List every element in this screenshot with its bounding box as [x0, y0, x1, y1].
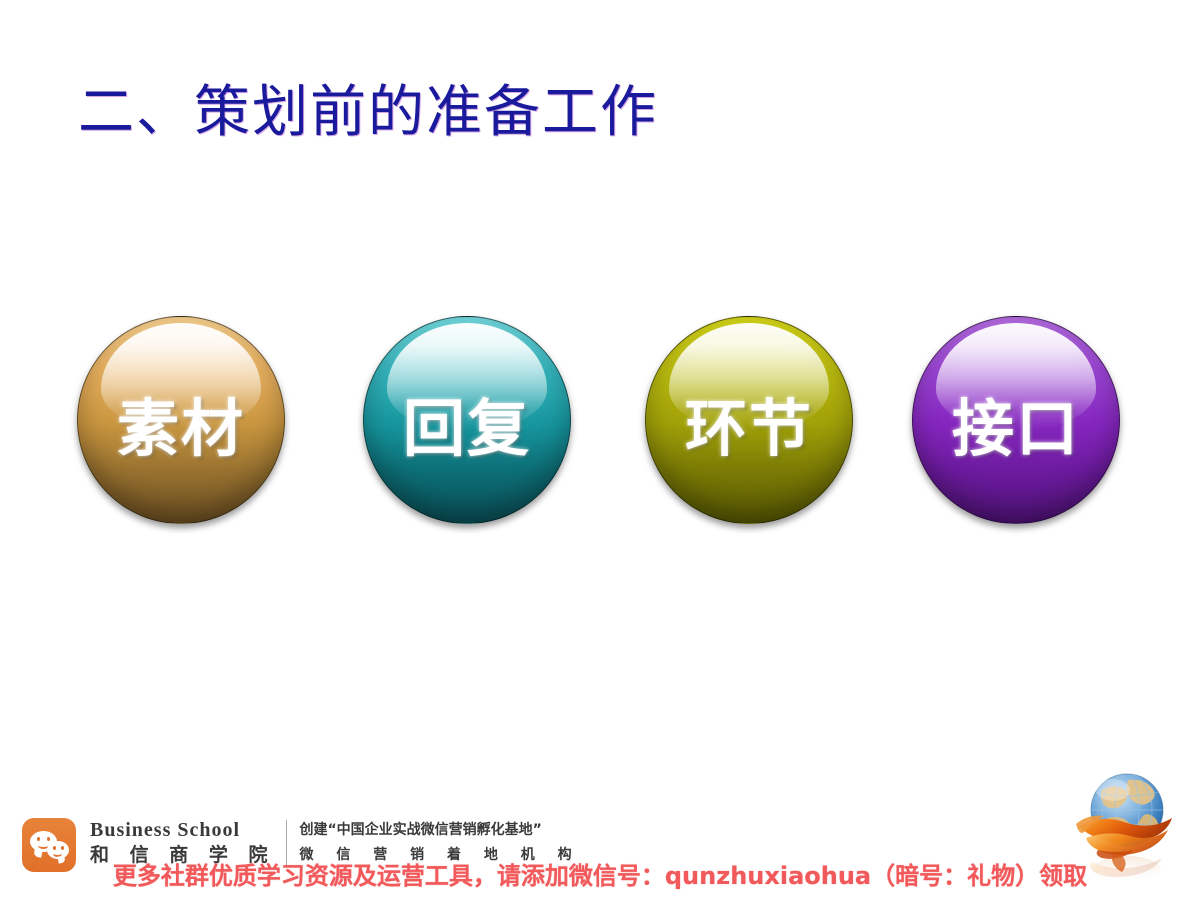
page-title: 二、策划前的准备工作 [78, 78, 658, 148]
sphere-label-huifu: 回复 [364, 317, 570, 523]
presentation-slide: 二、策划前的准备工作 素材 回复 环节 接口 [0, 0, 1200, 900]
bubble-eye-icon [37, 837, 40, 841]
brand-tagline-primary: 创建“中国企业实战微信营销孵化基地” [299, 818, 580, 842]
sphere-jiekou[interactable]: 接口 [912, 316, 1120, 524]
sphere-label-sucai: 素材 [78, 317, 284, 523]
sphere-label-jiekou: 接口 [913, 317, 1119, 523]
sphere-group: 素材 回复 环节 接口 [0, 316, 1200, 526]
brand-name-english: Business School [90, 818, 274, 842]
sphere-huanjie[interactable]: 环节 [645, 316, 853, 524]
sphere-huifu[interactable]: 回复 [363, 316, 571, 524]
globe-flame-icon [1068, 762, 1186, 892]
sphere-sucai[interactable]: 素材 [77, 316, 285, 524]
sphere-label-huanjie: 环节 [646, 317, 852, 523]
globe-flame-svg [1068, 762, 1186, 892]
watermark-text: 更多社群优质学习资源及运营工具，请添加微信号：qunzhuxiaohua（暗号：… [0, 856, 1200, 891]
bubble-eye-icon [47, 837, 50, 841]
